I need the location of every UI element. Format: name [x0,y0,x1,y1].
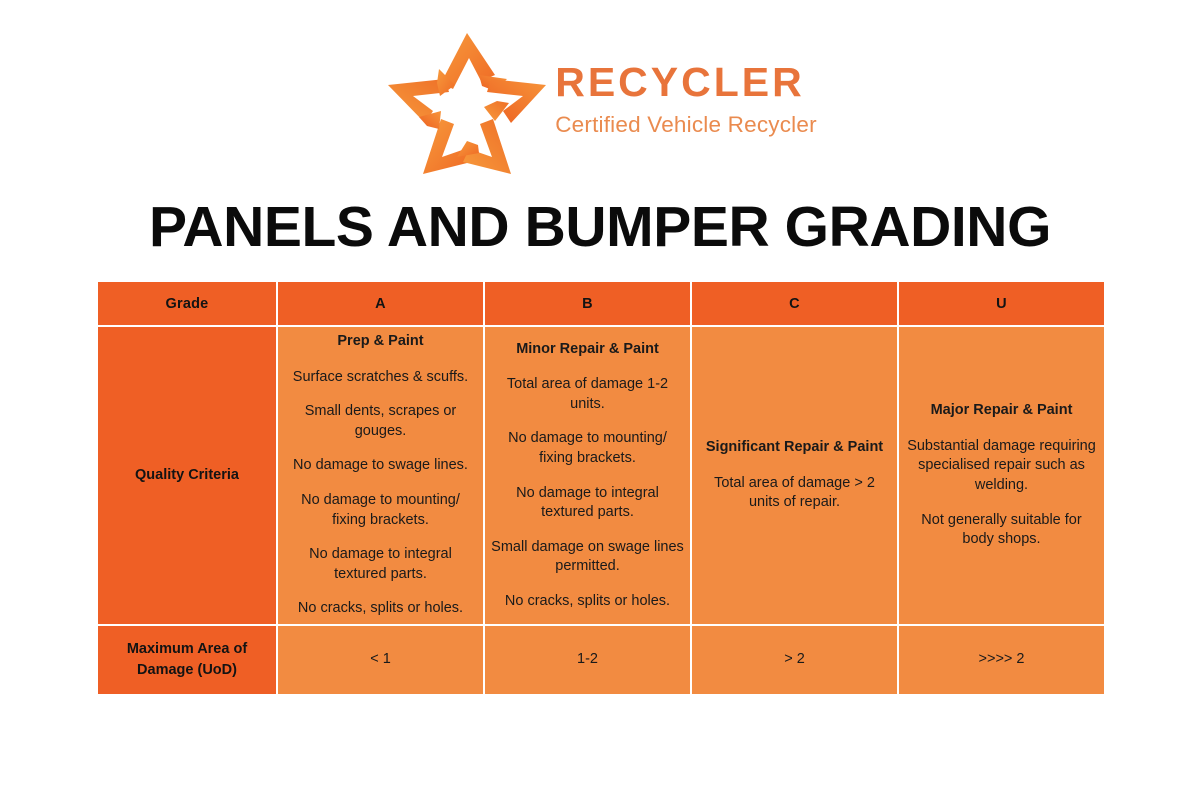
table-header-row: Grade A B C U [98,282,1104,325]
header-cell-grade: Grade [98,282,276,325]
cell-content-c: Significant Repair & Paint Total area of… [692,327,897,624]
header-cell-grade-u: U [899,282,1104,325]
cell-a-line-6: No cracks, splits or holes. [298,599,463,619]
cell-b-line-2: No damage to mounting/ fixing brackets. [497,429,679,468]
cell-u-line-2: Not generally suitable for body shops. [911,511,1093,550]
cell-quality-criteria-c: Significant Repair & Paint Total area of… [692,327,897,624]
cell-a-line-3: No damage to swage lines. [293,456,468,476]
cell-b-line-3: No damage to integral textured parts. [497,484,679,523]
row-label-quality-criteria: Quality Criteria [98,327,276,624]
cell-a-heading: Prep & Paint [337,332,423,352]
cell-content-a: Prep & Paint Surface scratches & scuffs.… [278,327,483,624]
cell-max-area-u: >>>> 2 [899,626,1104,694]
cell-max-area-b: 1-2 [485,626,690,694]
header-cell-grade-c: C [692,282,897,325]
cell-a-line-5: No damage to integral textured parts. [290,545,472,584]
brand-logo: RECYCLER Certified Vehicle Recycler [0,28,1200,178]
cell-max-area-c: > 2 [692,626,897,694]
logo-tagline: Certified Vehicle Recycler [555,111,817,138]
cell-content-b: Minor Repair & Paint Total area of damag… [485,327,690,624]
recycling-star-logo-icon [383,29,551,177]
cell-c-heading: Significant Repair & Paint [706,438,883,458]
header-cell-grade-b: B [485,282,690,325]
page-title: PANELS AND BUMPER GRADING [0,194,1200,260]
logo-inner: RECYCLER Certified Vehicle Recycler [383,29,817,177]
header-cell-grade-a: A [278,282,483,325]
table-row-maximum-area: Maximum Area of Damage (UoD) < 1 1-2 > 2… [98,626,1104,694]
cell-a-line-2: Small dents, scrapes or gouges. [290,402,472,441]
cell-b-line-4: Small damage on swage lines permitted. [485,538,690,577]
cell-b-line-5: No cracks, splits or holes. [505,592,670,612]
cell-b-line-1: Total area of damage 1-2 units. [497,375,679,414]
cell-c-line-1: Total area of damage > 2 units of repair… [704,474,886,513]
panels-bumper-grading-table: Grade A B C U Quality Criteria Prep & Pa… [96,280,1106,696]
cell-content-u: Major Repair & Paint Substantial damage … [899,327,1104,624]
cell-u-heading: Major Repair & Paint [931,401,1073,421]
cell-a-line-4: No damage to mounting/ fixing brackets. [290,491,472,530]
cell-quality-criteria-a: Prep & Paint Surface scratches & scuffs.… [278,327,483,624]
cell-quality-criteria-b: Minor Repair & Paint Total area of damag… [485,327,690,624]
row-label-maximum-area: Maximum Area of Damage (UoD) [98,626,276,694]
logo-wordmark: RECYCLER [555,62,817,104]
logo-text-block: RECYCLER Certified Vehicle Recycler [555,62,817,144]
cell-u-line-1: Substantial damage requiring specialised… [899,437,1104,496]
table-row-quality-criteria: Quality Criteria Prep & Paint Surface sc… [98,327,1104,624]
cell-max-area-a: < 1 [278,626,483,694]
cell-b-heading: Minor Repair & Paint [516,340,659,360]
cell-a-line-1: Surface scratches & scuffs. [293,368,468,388]
cell-quality-criteria-u: Major Repair & Paint Substantial damage … [899,327,1104,624]
